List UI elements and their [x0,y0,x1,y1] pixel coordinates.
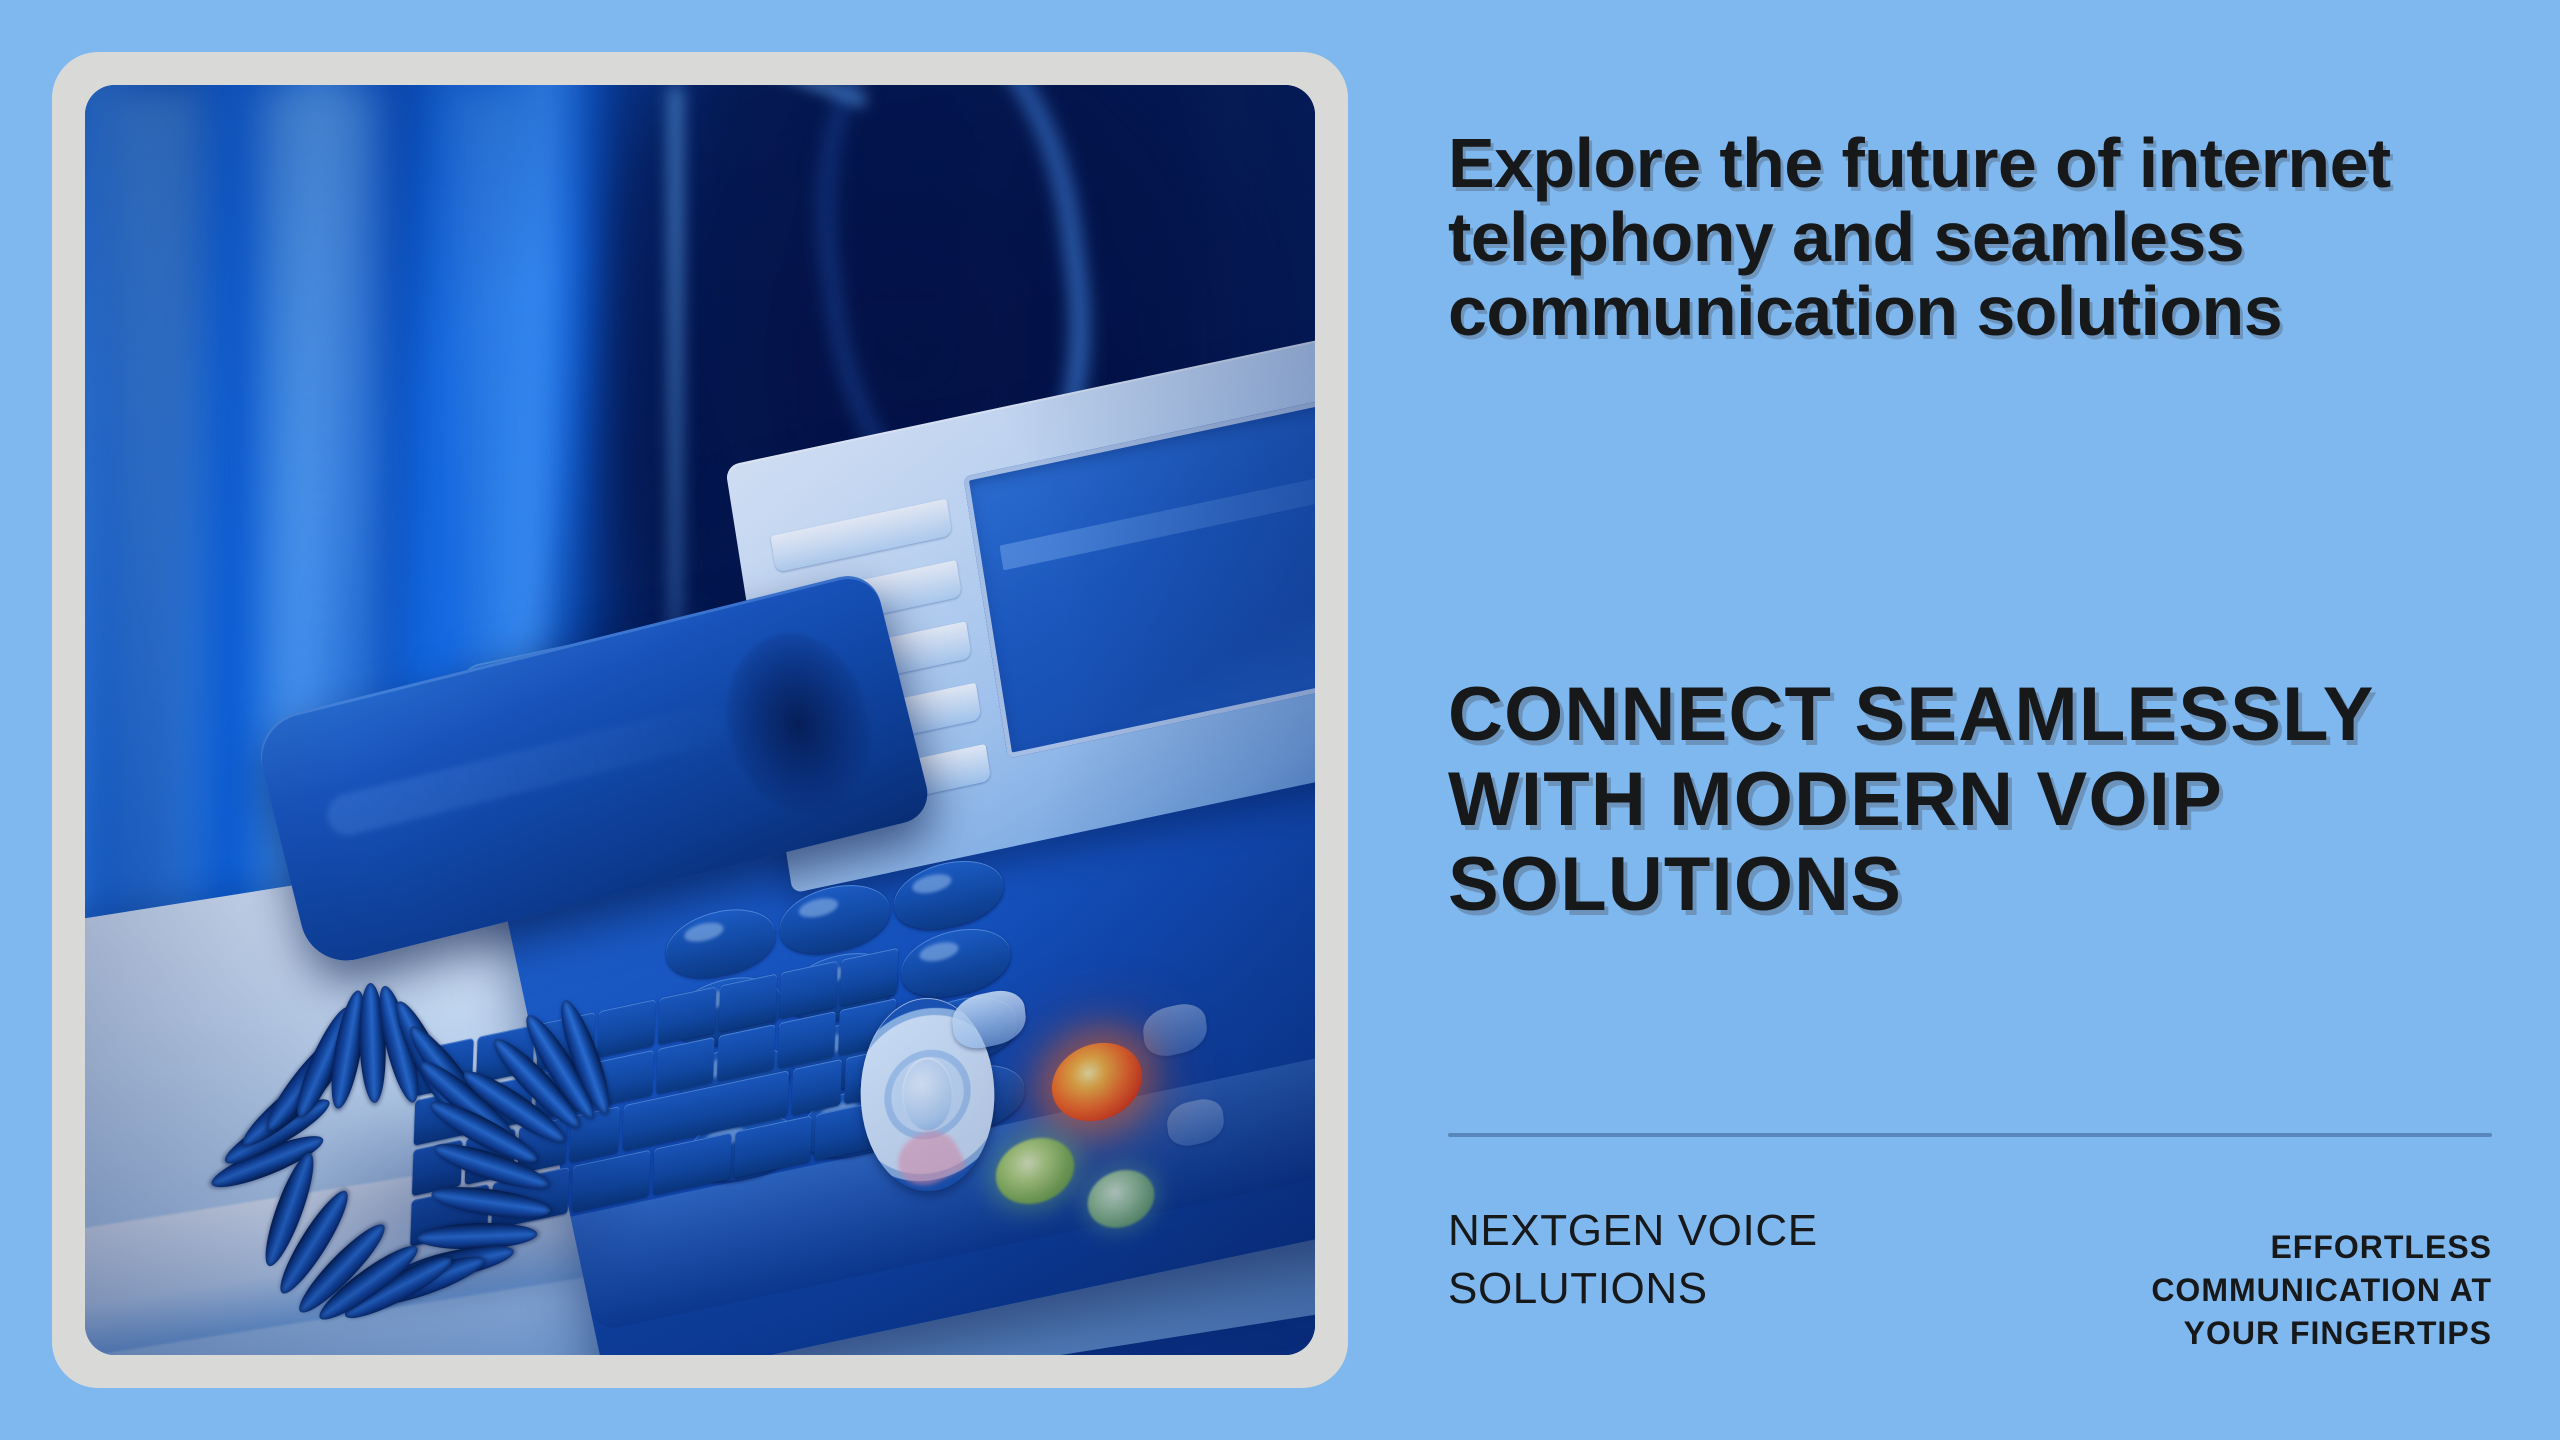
soft-key [770,498,951,572]
content-column: Explore the future of internet telephony… [1448,0,2492,1440]
photo-frame [52,52,1348,1388]
lcd-text-line [999,470,1315,571]
footer: NEXTGEN VOICE SOLUTIONS EFFORTLESS COMMU… [1448,1202,2492,1355]
qwerty-key [778,1011,836,1069]
qwerty-key [792,1059,842,1115]
handset-earpiece [708,618,889,829]
tagline-text: EFFORTLESS COMMUNICATION AT YOUR FINGERT… [2062,1202,2492,1355]
handset-highlight [323,701,730,839]
dpad-ok-button [899,1053,957,1136]
qwerty-key [717,1024,775,1082]
voip-phone-photo [85,85,1315,1355]
qwerty-key [656,1037,714,1095]
promotional-banner: Explore the future of internet telephony… [0,0,2560,1440]
divider [1448,1133,2492,1137]
page-title: CONNECT SEAMLESSLY WITH MODERN VOIP SOLU… [1448,672,2448,927]
phone-lcd-screen [963,391,1315,759]
coiled-handset-cord [227,940,680,1337]
subtitle-text: Explore the future of internet telephony… [1448,126,2508,349]
brand-name: NEXTGEN VOICE SOLUTIONS [1448,1202,1868,1318]
